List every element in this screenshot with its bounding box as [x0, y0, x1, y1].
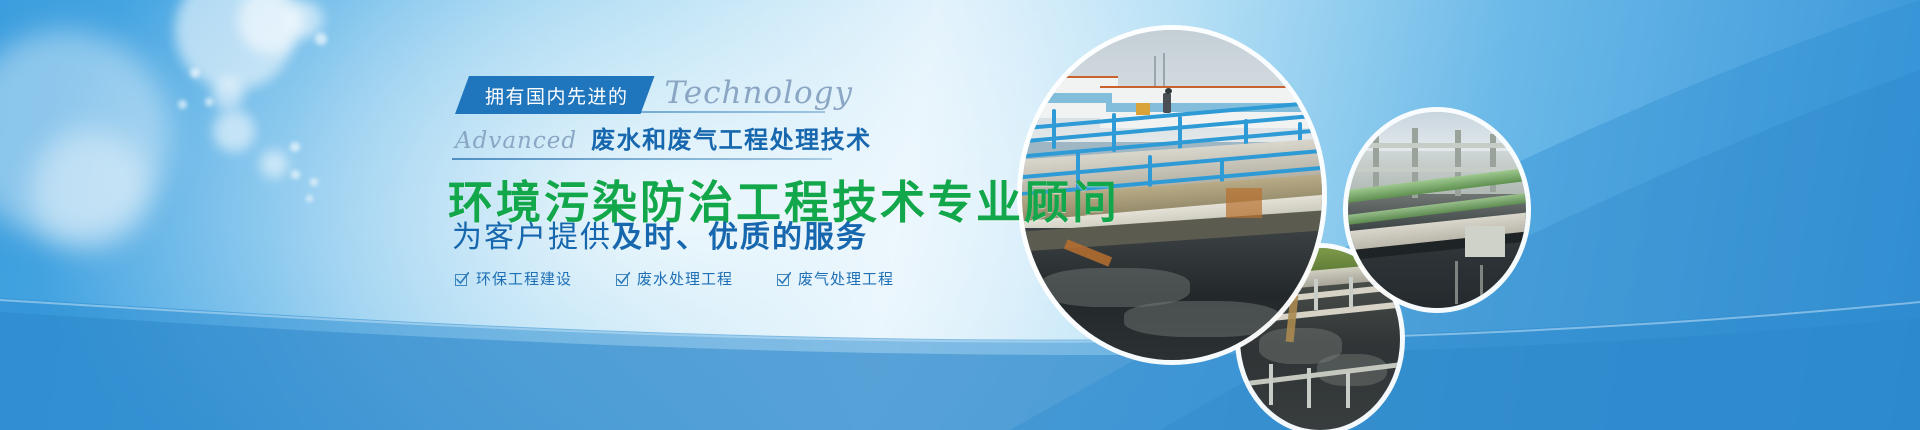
tagline-row: 拥有国内先进的 Technology: [455, 76, 853, 114]
feature-list: 环保工程建设 废水处理工程 废气处理工程: [455, 268, 894, 289]
green-pipeline-photo: [1348, 112, 1526, 308]
feature-item-environmental[interactable]: 环保工程建设: [455, 268, 572, 289]
technology-word: Technology: [665, 78, 854, 109]
advanced-word: Advanced: [455, 128, 577, 154]
subtitle-row: Advanced 废水和废气工程处理技术: [455, 120, 872, 155]
feature-item-waste-gas[interactable]: 废气处理工程: [777, 268, 894, 289]
check-icon: [455, 272, 469, 286]
tagline-chip: 拥有国内先进的: [455, 76, 655, 114]
divider-bottom: [452, 158, 832, 160]
check-icon: [777, 272, 791, 286]
feature-label: 环保工程建设: [476, 268, 572, 289]
check-icon: [616, 272, 630, 286]
subtitle-cn: 废水和废气工程处理技术: [591, 120, 872, 155]
feature-label: 废水处理工程: [637, 268, 733, 289]
sub-headline: 为客户提供及时、优质的服务: [452, 212, 868, 256]
banner-copy: 拥有国内先进的 Technology Advanced 废水和废气工程处理技术 …: [0, 0, 1060, 430]
hero-banner: 拥有国内先进的 Technology Advanced 废水和废气工程处理技术 …: [0, 0, 1920, 430]
feature-label: 废气处理工程: [798, 268, 894, 289]
sub-headline-normal: 为客户提供: [452, 220, 612, 255]
feature-item-wastewater[interactable]: 废水处理工程: [616, 268, 733, 289]
sub-headline-strong: 及时、优质的服务: [612, 220, 868, 255]
